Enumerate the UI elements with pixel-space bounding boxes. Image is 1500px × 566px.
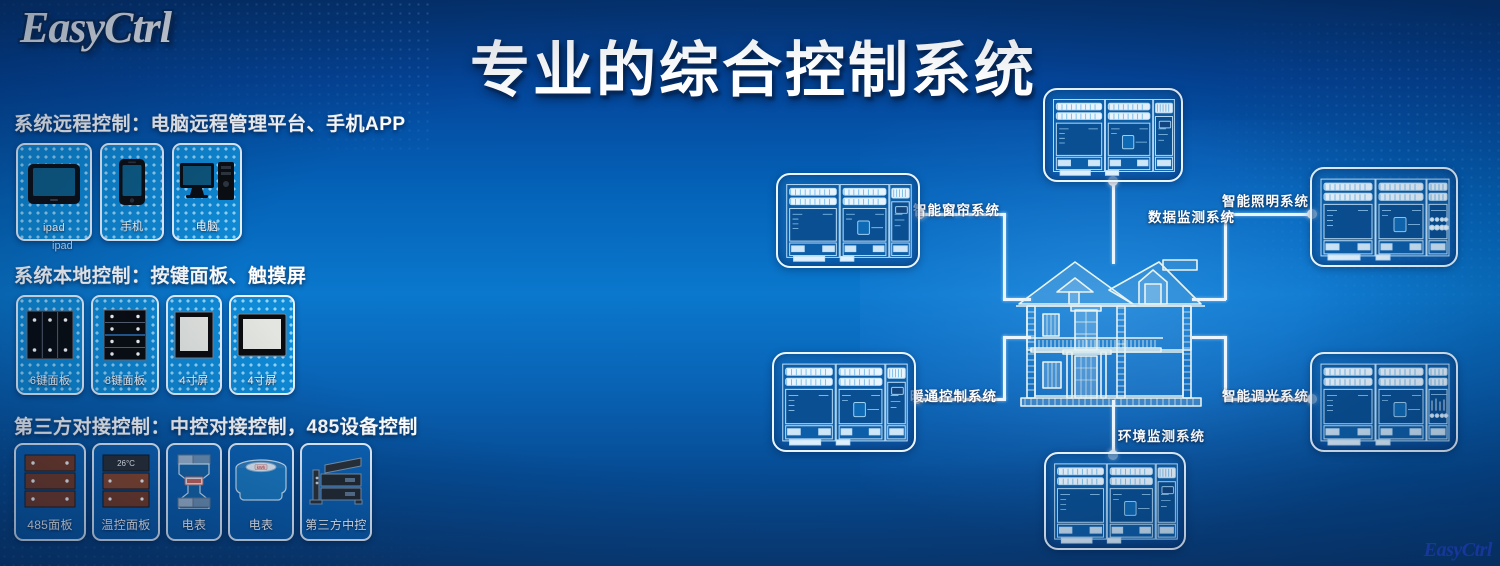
edge-hvac-v xyxy=(1003,336,1006,400)
node-dimming-controller[interactable] xyxy=(1310,352,1458,452)
device-label: 4寸屏 xyxy=(231,372,293,393)
energy-meter-icon xyxy=(168,445,220,516)
device-card-meter-din[interactable]: 电表 xyxy=(166,443,222,541)
stray-ipad-label: ipad xyxy=(52,240,73,252)
din-rail-controller-icon xyxy=(774,354,914,450)
node-data-controller[interactable] xyxy=(1043,88,1183,182)
svg-text:kWh: kWh xyxy=(257,464,266,469)
device-label: 电表 xyxy=(230,516,292,539)
eight-key-panel-icon xyxy=(93,297,157,372)
section-heading-local: 系统本地控制：按键面板、触摸屏 xyxy=(14,261,307,288)
tablet-icon xyxy=(18,145,90,222)
din-rail-controller-icon xyxy=(778,175,918,266)
device-label: 电脑 xyxy=(174,218,240,239)
device-label: 6键面板 xyxy=(18,372,82,393)
device-row-thirdparty: 485面板 26°C 温控面板 xyxy=(14,443,372,541)
section-heading-remote: 系统远程控制：电脑远程管理平台、手机APP xyxy=(14,109,406,136)
section-heading-thirdparty: 第三方对接控制：中控对接控制，485设备控制 xyxy=(14,412,418,439)
edge-label-curtain: 智能窗帘系统 xyxy=(913,199,1000,219)
node-lighting-controller[interactable] xyxy=(1310,167,1458,267)
device-card-8key[interactable]: 8键面板 xyxy=(91,295,159,395)
device-card-pc[interactable]: 电脑 xyxy=(172,143,242,241)
device-label: 4寸屏 xyxy=(168,372,220,393)
device-card-third-party-controller[interactable]: 第三方中控 xyxy=(300,443,372,541)
four-inch-screen-icon xyxy=(168,297,220,372)
device-card-phone[interactable]: 手机 xyxy=(100,143,164,241)
brand-logo: EasyCtrl xyxy=(20,2,171,53)
poster-canvas: EasyCtrl 专业的综合控制系统 系统远程控制：电脑远程管理平台、手机APP… xyxy=(0,0,1500,566)
device-label: 485面板 xyxy=(16,516,84,539)
device-label: 电表 xyxy=(168,516,220,539)
edge-label-lighting: 智能照明系统 xyxy=(1222,190,1309,210)
din-rail-controller-icon xyxy=(1312,169,1456,265)
device-label: 第三方中控 xyxy=(302,516,370,539)
din-rail-controller-icon xyxy=(1312,354,1456,450)
smartphone-icon xyxy=(102,145,162,218)
device-card-screen4a[interactable]: 4寸屏 xyxy=(166,295,222,395)
page-title: 专业的综合控制系统 xyxy=(470,22,1010,109)
device-label: 温控面板 xyxy=(94,516,158,539)
node-hvac-controller[interactable] xyxy=(772,352,916,452)
edge-lighting-h1 xyxy=(1224,213,1312,216)
device-label: ipad xyxy=(18,222,90,239)
villa-house-icon xyxy=(1013,252,1209,412)
six-key-panel-icon xyxy=(18,297,82,372)
thermostat-panel-icon: 26°C xyxy=(94,445,158,516)
watermark: EasyCtrl xyxy=(1424,539,1492,562)
device-row-local: 6键面板 8键面板 xyxy=(16,295,295,395)
device-card-485panel[interactable]: 485面板 xyxy=(14,443,86,541)
din-rail-controller-icon xyxy=(1046,454,1184,548)
device-label: 8键面板 xyxy=(93,372,157,393)
round-meter-icon: kWh xyxy=(230,445,292,516)
edge-label-hvac: 暖通控制系统 xyxy=(910,385,997,405)
device-card-ipad[interactable]: ipad xyxy=(16,143,92,241)
device-row-remote: ipad 手机 xyxy=(16,143,242,241)
device-card-6key[interactable]: 6键面板 xyxy=(16,295,84,395)
edge-label-dimming: 智能调光系统 xyxy=(1222,385,1309,405)
device-card-screen4b[interactable]: 4寸屏 xyxy=(229,295,295,395)
edge-lighting-v xyxy=(1224,213,1227,300)
rs485-panel-icon xyxy=(16,445,84,516)
din-rail-controller-icon xyxy=(1045,90,1181,180)
device-card-meter-round[interactable]: kWh 电表 xyxy=(228,443,294,541)
svg-text:26°C: 26°C xyxy=(117,459,135,468)
device-card-thermostat[interactable]: 26°C 温控面板 xyxy=(92,443,160,541)
desktop-computer-icon xyxy=(174,145,240,218)
edge-curtain-v xyxy=(1003,213,1006,300)
third-party-controller-icon xyxy=(302,445,370,516)
edge-label-environment: 环境监测系统 xyxy=(1118,425,1205,445)
node-environment-controller[interactable] xyxy=(1044,452,1186,550)
device-label: 手机 xyxy=(102,218,162,239)
node-curtain-controller[interactable] xyxy=(776,173,920,268)
four-inch-screen-wide-icon xyxy=(231,297,293,372)
